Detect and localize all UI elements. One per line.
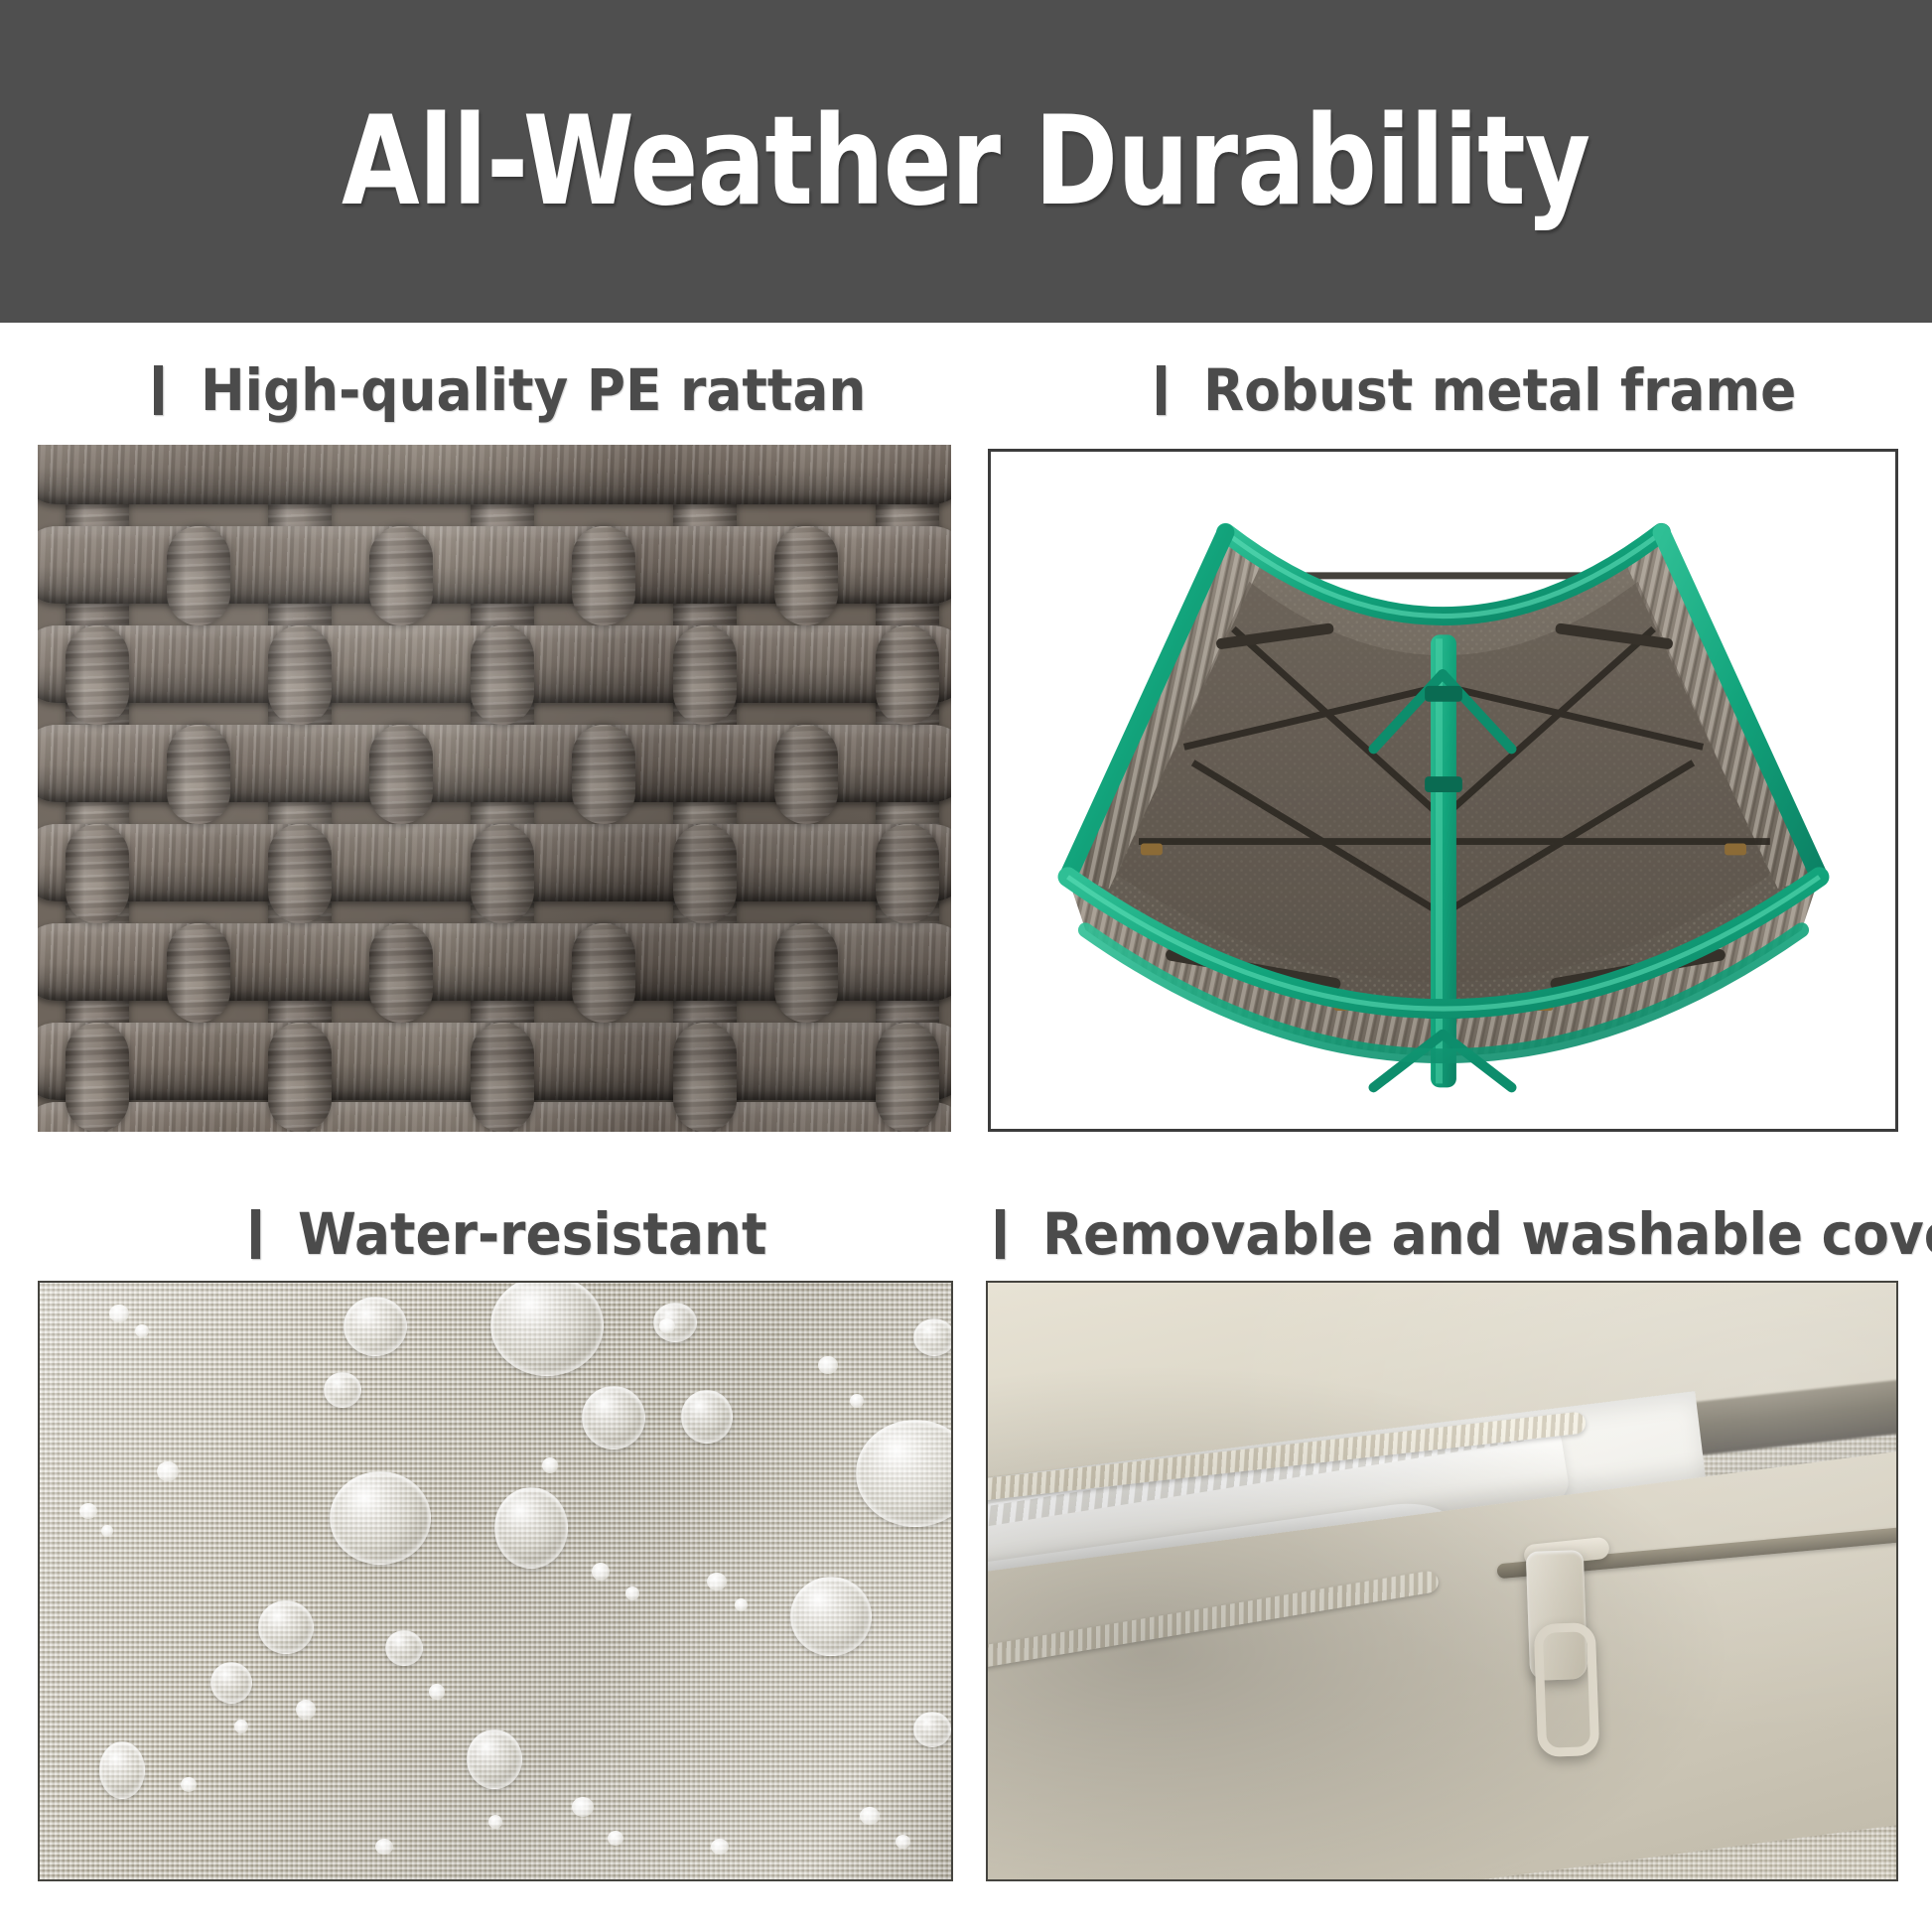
water-droplet xyxy=(467,1729,522,1789)
feature-image-washable-cover xyxy=(986,1281,1898,1881)
header-banner: All-Weather Durability xyxy=(0,0,1932,323)
water-droplet xyxy=(913,1712,951,1747)
water-speck xyxy=(659,1318,675,1333)
water-droplet xyxy=(681,1390,733,1444)
water-droplet xyxy=(790,1577,872,1656)
water-speck xyxy=(234,1720,248,1733)
page-title: All-Weather Durability xyxy=(342,100,1589,223)
water-speck xyxy=(101,1525,113,1537)
water-speck xyxy=(592,1563,610,1581)
water-speck xyxy=(818,1356,838,1374)
label-accent-bar-icon xyxy=(154,365,163,415)
water-speck xyxy=(375,1839,393,1855)
feature-label-metal-frame: Robust metal frame xyxy=(1157,359,1848,421)
label-accent-bar-icon xyxy=(996,1209,1005,1259)
water-speck xyxy=(429,1684,445,1700)
water-droplet xyxy=(913,1318,953,1356)
water-speck xyxy=(157,1461,179,1481)
feature-image-water-resistant xyxy=(38,1281,953,1881)
feature-label-washable-cover: Removable and washable cover xyxy=(996,1203,1932,1265)
feature-label-text: High-quality PE rattan xyxy=(201,361,866,419)
feature-image-pe-rattan xyxy=(38,445,951,1132)
water-speck xyxy=(711,1839,729,1855)
rattan-weave-texture xyxy=(38,445,951,1132)
water-speck xyxy=(860,1807,880,1825)
metal-frame-illustration xyxy=(991,452,1895,1129)
water-droplet xyxy=(494,1487,568,1569)
water-speck xyxy=(542,1457,558,1473)
water-speck xyxy=(625,1587,639,1600)
water-droplet xyxy=(210,1662,252,1704)
water-droplet xyxy=(330,1471,431,1565)
water-speck xyxy=(896,1835,910,1849)
water-droplet xyxy=(344,1297,407,1356)
water-speck xyxy=(608,1831,623,1846)
water-speck xyxy=(79,1503,97,1519)
water-speck xyxy=(181,1777,197,1792)
water-droplet xyxy=(258,1600,314,1654)
water-droplet xyxy=(99,1741,145,1799)
feature-label-text: Water-resistant xyxy=(298,1205,766,1263)
water-droplet xyxy=(385,1630,423,1666)
feature-image-metal-frame xyxy=(988,449,1898,1132)
label-accent-bar-icon xyxy=(251,1209,260,1259)
water-speck xyxy=(296,1700,316,1720)
zipper-pull-icon xyxy=(1533,1622,1599,1757)
feature-label-pe-rattan: High-quality PE rattan xyxy=(154,359,924,421)
feature-label-water-resistant: Water-resistant xyxy=(251,1203,808,1265)
feature-label-text: Removable and washable cover xyxy=(1042,1205,1932,1263)
label-accent-bar-icon xyxy=(1157,365,1166,415)
water-speck xyxy=(488,1815,502,1829)
water-speck xyxy=(109,1305,129,1322)
water-droplet xyxy=(582,1386,645,1449)
water-droplet xyxy=(324,1372,361,1408)
water-speck xyxy=(572,1797,594,1817)
water-speck xyxy=(850,1394,864,1408)
water-speck xyxy=(135,1324,149,1337)
water-speck xyxy=(707,1573,727,1590)
water-speck xyxy=(735,1598,748,1611)
feature-label-text: Robust metal frame xyxy=(1203,361,1796,419)
